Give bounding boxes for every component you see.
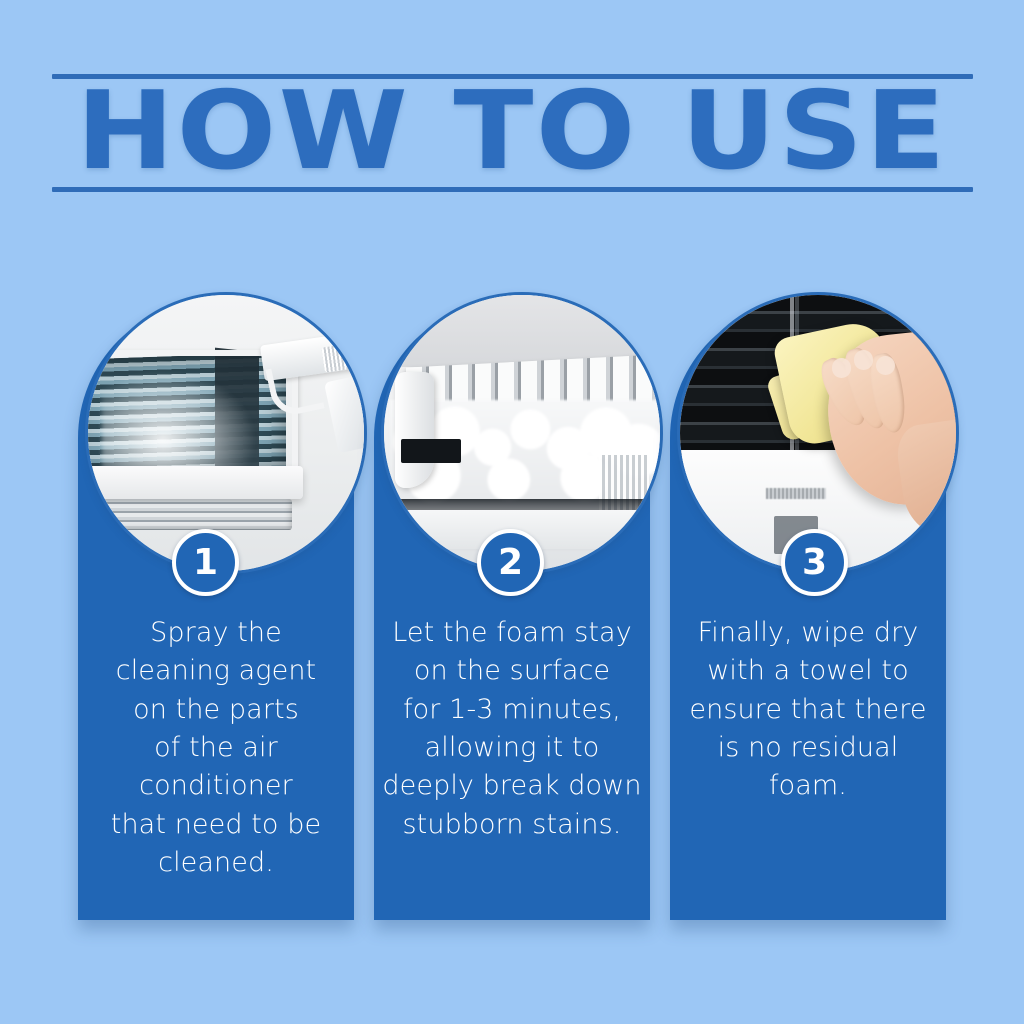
step-number-badge-1: 1: [172, 529, 239, 596]
step-number-badge-2: 2: [477, 529, 544, 596]
step-number-badge-3: 3: [781, 529, 848, 596]
scene-spray-bottle-image: [88, 295, 364, 571]
step-caption-2: Let the foam stay on the surface for 1-3…: [376, 614, 648, 844]
step-photo-1: [85, 292, 367, 574]
infographic-root: HOW TO USE 1 Spray the cleaning agent on…: [0, 0, 1024, 1024]
step-caption-1: Spray the cleaning agent on the parts of…: [80, 614, 352, 882]
scene-foam-coils-image: [384, 295, 660, 571]
steps-container: 1 Spray the cleaning agent on the parts …: [0, 0, 1024, 1024]
step-caption-3: Finally, wipe dry with a towel to ensure…: [672, 614, 944, 806]
